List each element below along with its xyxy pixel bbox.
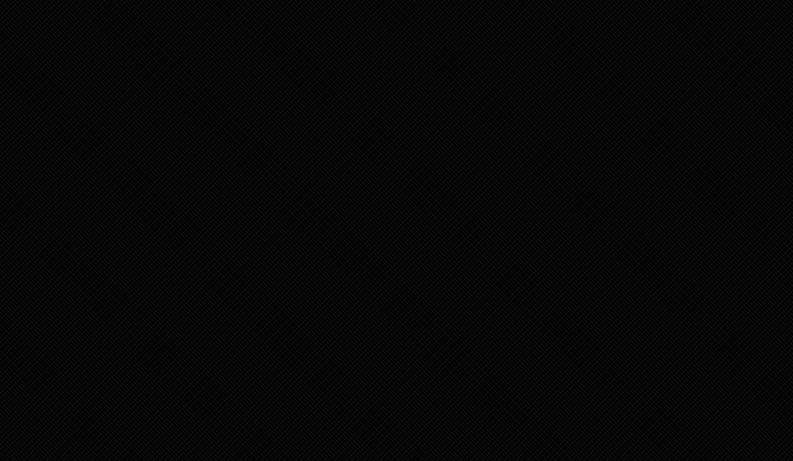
y-axis-label: Change in Share of Economy (%) (110, 107, 116, 202)
y-tick-label: -10 (128, 312, 154, 319)
background-footer-divider (26, 384, 768, 385)
scatter-point[interactable] (494, 204, 500, 210)
scatter-point[interactable] (317, 300, 323, 306)
scatter-point[interactable] (314, 260, 320, 266)
question-mark-icon[interactable]: ? (426, 293, 436, 303)
quadrant-label-quality-growth: QUALITY GROWTH? (565, 149, 654, 159)
quadrant-label-maturity: MATURITY? (276, 149, 331, 159)
scatter-point[interactable] (233, 282, 239, 288)
scatter-point[interactable] (391, 304, 397, 310)
scatter-point[interactable] (394, 191, 401, 198)
page-title: Life Cycle Of The Industry (104, 90, 690, 102)
background-scatter-point (726, 369, 733, 376)
quadrant-label-text: MATURITY (276, 151, 319, 158)
scatter-point[interactable] (394, 280, 401, 287)
scatter-point[interactable] (291, 263, 298, 270)
scatter-point[interactable] (401, 209, 409, 217)
background-scatter-point (276, 375, 283, 382)
scatter-point[interactable] (353, 234, 361, 242)
scatter-point[interactable] (392, 271, 397, 276)
scatter-point[interactable] (418, 209, 424, 215)
scatter-point[interactable] (315, 246, 321, 252)
background-label-quality-growth: QUALITY GROWTH ? (598, 63, 768, 79)
scatter-point[interactable] (381, 231, 388, 238)
scatter-point[interactable] (467, 273, 474, 280)
scatter-point[interactable] (368, 240, 373, 245)
question-mark-icon: ? (518, 64, 533, 79)
background-label-quantity-growth: QUANTITY GROWTH ? (350, 63, 533, 79)
background-label-maturity: MATURITY ? (85, 63, 188, 79)
scatter-point[interactable] (257, 298, 265, 306)
question-mark-icon: ? (754, 64, 768, 79)
scatter-point[interactable] (441, 214, 448, 221)
scatter-point[interactable] (333, 233, 339, 239)
y-tick-label: 5 (128, 230, 154, 237)
y-axis-ticks: -10-505101520 (122, 110, 154, 325)
tooltip-hotels-and-motels: Hotels and Motels (345, 245, 419, 260)
scatter-point[interactable] (363, 204, 369, 210)
scatter-point[interactable] (339, 291, 345, 297)
background-label-quantity-growth-text: QUANTITY GROWTH (350, 63, 515, 79)
scatter-point[interactable] (329, 290, 335, 296)
scatter-point[interactable] (389, 234, 396, 241)
scatter-point[interactable] (289, 298, 295, 304)
scatter-point[interactable] (487, 199, 494, 206)
y-tick-label: 15 (128, 175, 154, 182)
scatter-point[interactable] (505, 267, 510, 272)
scatter-point[interactable] (475, 229, 482, 236)
background-scatter-point (66, 348, 73, 355)
scatter-point[interactable] (323, 305, 329, 311)
background-scatter-point (424, 375, 431, 382)
screenshot-root: MATURITY ? QUANTITY GROWTH ? QUALITY GRO… (0, 0, 793, 461)
scatter-point[interactable] (276, 287, 282, 293)
scatter-point[interactable] (307, 299, 314, 306)
scatter-point[interactable] (450, 277, 457, 284)
scatter-point[interactable] (308, 236, 316, 244)
scatter-point[interactable] (320, 266, 326, 272)
scatter-point[interactable] (329, 226, 336, 233)
scatter-point[interactable] (458, 279, 463, 284)
scatter-point[interactable] (436, 233, 443, 240)
scatter-point[interactable] (319, 288, 326, 295)
scatter-point[interactable] (336, 252, 341, 257)
scatter-point[interactable] (286, 252, 292, 258)
download-icon[interactable] (621, 89, 637, 105)
scatter-point[interactable] (376, 300, 382, 306)
scatter-point[interactable] (427, 271, 432, 276)
scatter-point[interactable] (242, 281, 249, 288)
scatter-point[interactable] (432, 241, 438, 247)
x-axis-label: Growth in Number of Establishments (%) (104, 337, 690, 344)
scatter-point[interactable] (466, 225, 474, 233)
question-mark-icon[interactable]: ? (321, 149, 331, 159)
scatter-point[interactable] (401, 197, 406, 202)
scatter-point[interactable] (535, 226, 542, 233)
scatter-point[interactable] (310, 291, 317, 298)
scatter-point[interactable] (528, 284, 534, 290)
scatter-point[interactable] (444, 283, 450, 289)
scatter-point[interactable] (398, 231, 403, 236)
scatter-point[interactable] (395, 214, 400, 219)
scatter-point[interactable] (380, 185, 387, 192)
scatter-point[interactable] (312, 232, 318, 238)
scatter-point[interactable] (355, 270, 361, 276)
quadrant-label-text: QUALITY GROWTH (565, 151, 642, 158)
x-axis-line (160, 325, 672, 326)
scatter-point[interactable] (269, 251, 275, 257)
background-scatter-point (356, 373, 363, 380)
quadrant-label-quantity-growth: QUANTITY GROWTH? (435, 149, 530, 159)
scatter-point[interactable] (453, 221, 460, 228)
scatter-point[interactable] (348, 292, 354, 298)
background-scatter-point (386, 385, 393, 392)
background-label-quality-growth-text: QUALITY GROWTH (598, 63, 751, 79)
scatter-point[interactable] (413, 224, 420, 231)
scatter-point[interactable] (433, 217, 440, 224)
scatter-point[interactable] (384, 276, 391, 283)
scatter-point[interactable] (304, 231, 311, 238)
scatter-point[interactable] (397, 274, 403, 280)
plot-area: MATURITY?QUANTITY GROWTH?QUALITY GROWTH?… (160, 144, 672, 325)
scatter-point[interactable] (409, 205, 417, 213)
scatter-point[interactable] (364, 307, 369, 312)
scatter-point[interactable] (322, 221, 328, 227)
background-divider-dotted (273, 61, 275, 79)
scatter-point[interactable] (345, 310, 351, 316)
scatter-point[interactable] (404, 264, 410, 270)
scatter-point[interactable] (475, 271, 481, 277)
scatter-point[interactable] (317, 254, 323, 260)
scatter-point[interactable] (347, 272, 352, 277)
scatter-point[interactable] (308, 275, 315, 282)
scatter-point[interactable] (295, 258, 300, 263)
scatter-point[interactable] (302, 283, 310, 291)
scatter-point[interactable] (449, 210, 455, 216)
scatter-point[interactable] (283, 295, 289, 301)
scatter-point[interactable] (298, 299, 304, 305)
scatter-point[interactable] (362, 190, 368, 196)
scatter-point[interactable] (356, 283, 363, 290)
scatter-point[interactable] (541, 233, 546, 238)
scatter-point[interactable] (456, 206, 463, 213)
scatter-point[interactable] (260, 279, 268, 287)
scatter-point[interactable] (428, 189, 436, 197)
y-tick-label: 10 (128, 202, 154, 209)
question-mark-icon[interactable]: ? (520, 149, 530, 159)
background-scatter-point (592, 385, 599, 392)
quadrant-label-decline: DECLINE? (387, 293, 436, 303)
scatter-point[interactable] (379, 288, 384, 293)
scatter-point[interactable] (546, 231, 552, 237)
scatter-point[interactable] (334, 258, 340, 264)
scatter-point[interactable] (273, 261, 280, 268)
scatter-point[interactable] (434, 272, 442, 280)
scatter-point[interactable] (407, 308, 413, 314)
scatter-point[interactable] (311, 283, 318, 290)
y-tick-label: 0 (128, 257, 154, 264)
quadrant-label-text: QUANTITY GROWTH (435, 151, 518, 158)
scatter-point[interactable] (337, 272, 344, 279)
y-tick-label: -5 (128, 284, 154, 291)
scatter-point[interactable] (378, 212, 386, 220)
background-scatter-point (496, 389, 503, 396)
quadrant-label-text: DECLINE (387, 295, 424, 302)
scatter-plot: Change in Share of Economy (%) -10-50510… (104, 110, 690, 367)
scatter-point[interactable] (354, 309, 360, 315)
scatter-point[interactable] (319, 275, 325, 281)
scatter-point[interactable] (330, 268, 335, 273)
scatter-point[interactable] (413, 275, 419, 281)
scatter-point[interactable] (373, 290, 379, 296)
scatter-point[interactable] (276, 248, 283, 255)
scatter-point[interactable] (466, 280, 472, 286)
scatter-point[interactable] (414, 197, 421, 204)
scatter-point[interactable] (443, 203, 448, 208)
scatter-point[interactable] (533, 233, 540, 240)
scatter-point[interactable] (442, 275, 448, 281)
scatter-point[interactable] (368, 297, 375, 304)
scatter-point[interactable] (293, 282, 300, 289)
scatter-point[interactable] (320, 240, 326, 246)
scatter-point[interactable] (287, 242, 293, 248)
scatter-point[interactable] (428, 230, 435, 237)
question-mark-icon[interactable]: ? (644, 149, 654, 159)
scatter-point[interactable] (424, 243, 430, 249)
scatter-point[interactable] (421, 227, 427, 233)
chart-modal-card: Life Cycle Of The Industry Change in Sha… (104, 84, 690, 367)
background-divider-diagonal (566, 63, 588, 81)
scatter-point[interactable] (405, 227, 412, 234)
scatter-point[interactable] (224, 282, 230, 288)
scatter-point[interactable] (366, 224, 373, 231)
scatter-point[interactable] (464, 203, 471, 210)
scatter-point[interactable] (327, 273, 335, 281)
question-mark-icon: ? (173, 64, 188, 79)
background-scatter-point (92, 345, 99, 352)
background-scatter-point (686, 375, 693, 382)
y-tick-label: 20 (128, 147, 154, 154)
scatter-point[interactable] (384, 194, 390, 200)
card-header: Life Cycle Of The Industry (104, 84, 690, 110)
scatter-point[interactable] (371, 208, 378, 215)
scatter-point[interactable] (264, 259, 270, 265)
scatter-point[interactable] (306, 245, 312, 251)
scatter-point[interactable] (255, 269, 261, 275)
background-scatter-point (526, 375, 533, 382)
background-label-maturity-text: MATURITY (85, 63, 170, 79)
